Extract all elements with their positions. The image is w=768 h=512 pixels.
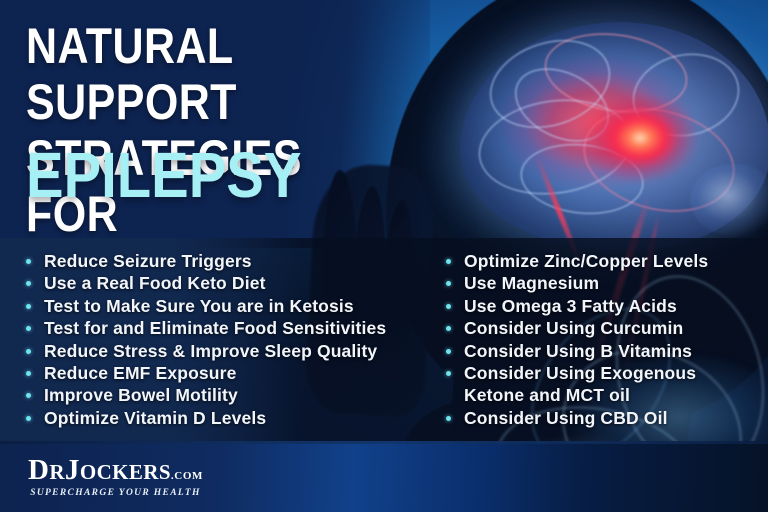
list-item: Optimize Zinc/Copper Levels [438, 250, 758, 272]
list-item: Improve Bowel Motility [18, 384, 438, 406]
list-item: Consider Using CBD Oil [438, 407, 758, 429]
brand-tagline: SUPERCHARGE YOUR HEALTH [28, 488, 203, 498]
logo-letter-r: R [49, 460, 65, 484]
cerebellum-icon [690, 164, 768, 236]
list-item: Test for and Eliminate Food Sensitivitie… [18, 317, 438, 339]
logo-domain-suffix: .COM [171, 470, 203, 482]
logo-letters-ockers: OCKERS [80, 460, 171, 484]
list-item: Consider Using Curcumin [438, 317, 758, 339]
brand-logo[interactable]: DRJOCKERS.COM SUPERCHARGE YOUR HEALTH [28, 455, 203, 498]
logo-letter-d: D [28, 454, 49, 486]
seizure-hotspot-glow [580, 92, 700, 184]
list-item: Reduce EMF Exposure [18, 362, 438, 384]
title-line-1: NATURAL SUPPORT [26, 18, 237, 130]
list-item: Use Magnesium [438, 272, 758, 294]
list-item: Reduce Seizure Triggers [18, 250, 438, 272]
logo-letter-j: J [65, 454, 80, 486]
list-item: Consider Using Exogenous [438, 362, 758, 384]
list-item: Use Omega 3 Fatty Acids [438, 295, 758, 317]
left-bullet-list: Reduce Seizure Triggers Use a Real Food … [18, 250, 438, 429]
list-item-continuation: Ketone and MCT oil [438, 384, 758, 406]
right-bullet-list: Optimize Zinc/Copper Levels Use Magnesiu… [438, 250, 758, 429]
list-item: Use a Real Food Keto Diet [18, 272, 438, 294]
right-strategy-column: Optimize Zinc/Copper Levels Use Magnesiu… [438, 250, 758, 429]
infographic-poster: NATURAL SUPPORT STRATEGIES FOR EPILEPSY … [0, 0, 768, 512]
left-strategy-column: Reduce Seizure Triggers Use a Real Food … [18, 250, 438, 429]
list-item: Reduce Stress & Improve Sleep Quality [18, 340, 438, 362]
headline-epilepsy: EPILEPSY [26, 140, 301, 210]
list-item: Test to Make Sure You are in Ketosis [18, 295, 438, 317]
brand-logo-wordmark: DRJOCKERS.COM [28, 455, 203, 491]
list-item: Optimize Vitamin D Levels [18, 407, 438, 429]
brain-illustration [452, 14, 768, 264]
list-item: Consider Using B Vitamins [438, 340, 758, 362]
